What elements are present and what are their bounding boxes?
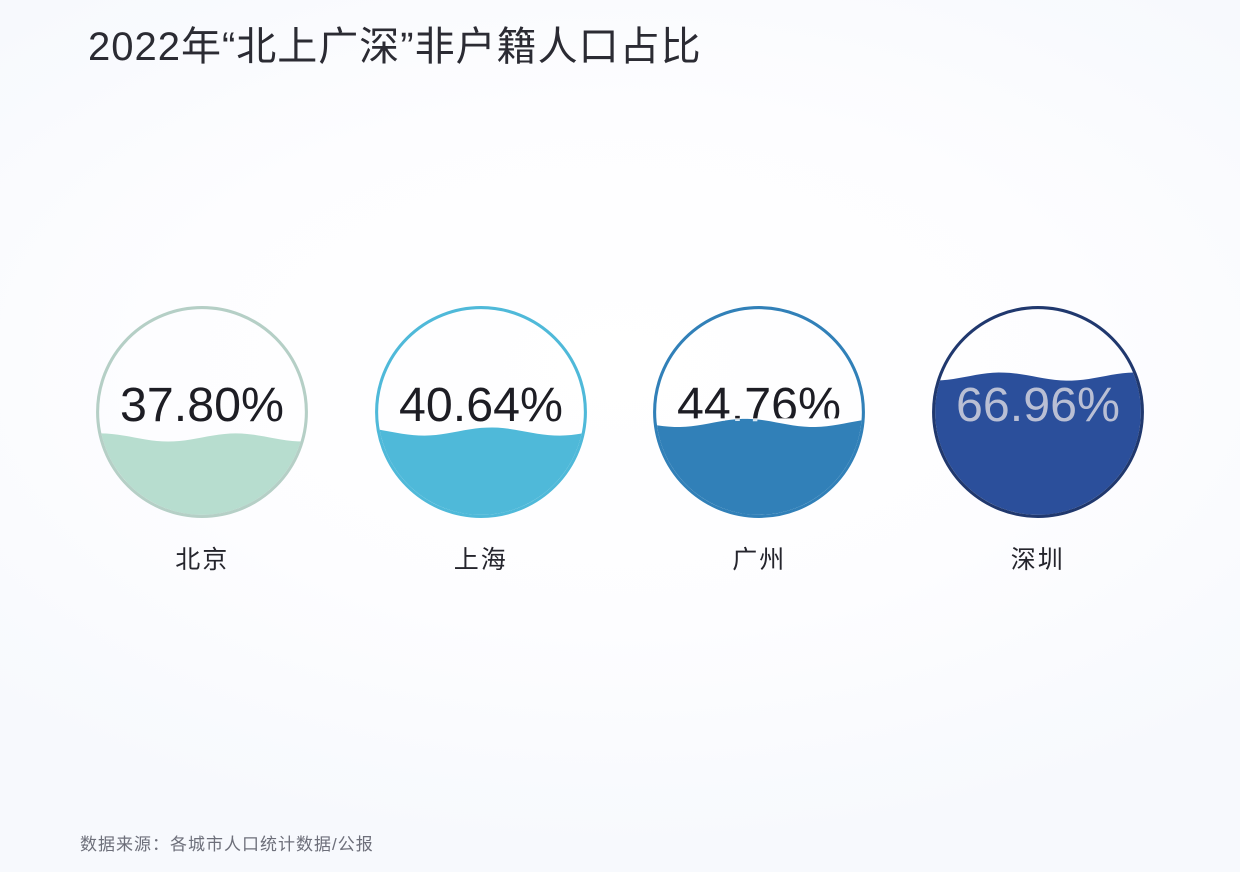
city-label-深圳: 深圳 [1011,540,1065,576]
gauge-liquid-wave [67,433,338,557]
source-note: 数据来源：各城市人口统计数据/公报 [80,830,374,855]
city-label-上海: 上海 [454,540,508,576]
city-label-广州: 广州 [732,540,786,576]
gauge-cell-2: 40.64%40.64%上海 [365,296,598,576]
gauge-cell-1: 37.80%37.80%北京 [86,296,319,576]
gauge-value-label: 37.80% [120,378,284,432]
gauge-liquid-wave [345,427,616,557]
liquid-gauge-上海[interactable]: 40.64%40.64% [365,296,597,528]
liquid-gauge-深圳[interactable]: 66.96%66.96% [922,296,1154,528]
liquid-gauge-广州[interactable]: 44.76%44.76% [643,296,875,528]
gauge-value-label: 40.64% [399,378,563,432]
gauge-svg-北京: 37.80%37.80% [86,296,318,528]
liquid-gauge-北京[interactable]: 37.80%37.80% [86,296,318,528]
gauge-svg-深圳: 66.96%66.96% [922,296,1154,528]
page-title: 2022年“北上广深”非户籍人口占比 [88,14,702,72]
gauge-svg-上海: 40.64%40.64% [365,296,597,528]
gauge-cell-4: 66.96%66.96%深圳 [922,296,1155,576]
liquid-gauge-row: 37.80%37.80%北京40.64%40.64%上海44.76%44.76%… [0,296,1240,596]
gauge-liquid-wave [624,419,895,557]
gauge-value-label: 66.96% [956,378,1120,432]
gauge-cell-3: 44.76%44.76%广州 [643,296,876,576]
city-label-北京: 北京 [175,540,229,576]
gauge-svg-广州: 44.76%44.76% [643,296,875,528]
